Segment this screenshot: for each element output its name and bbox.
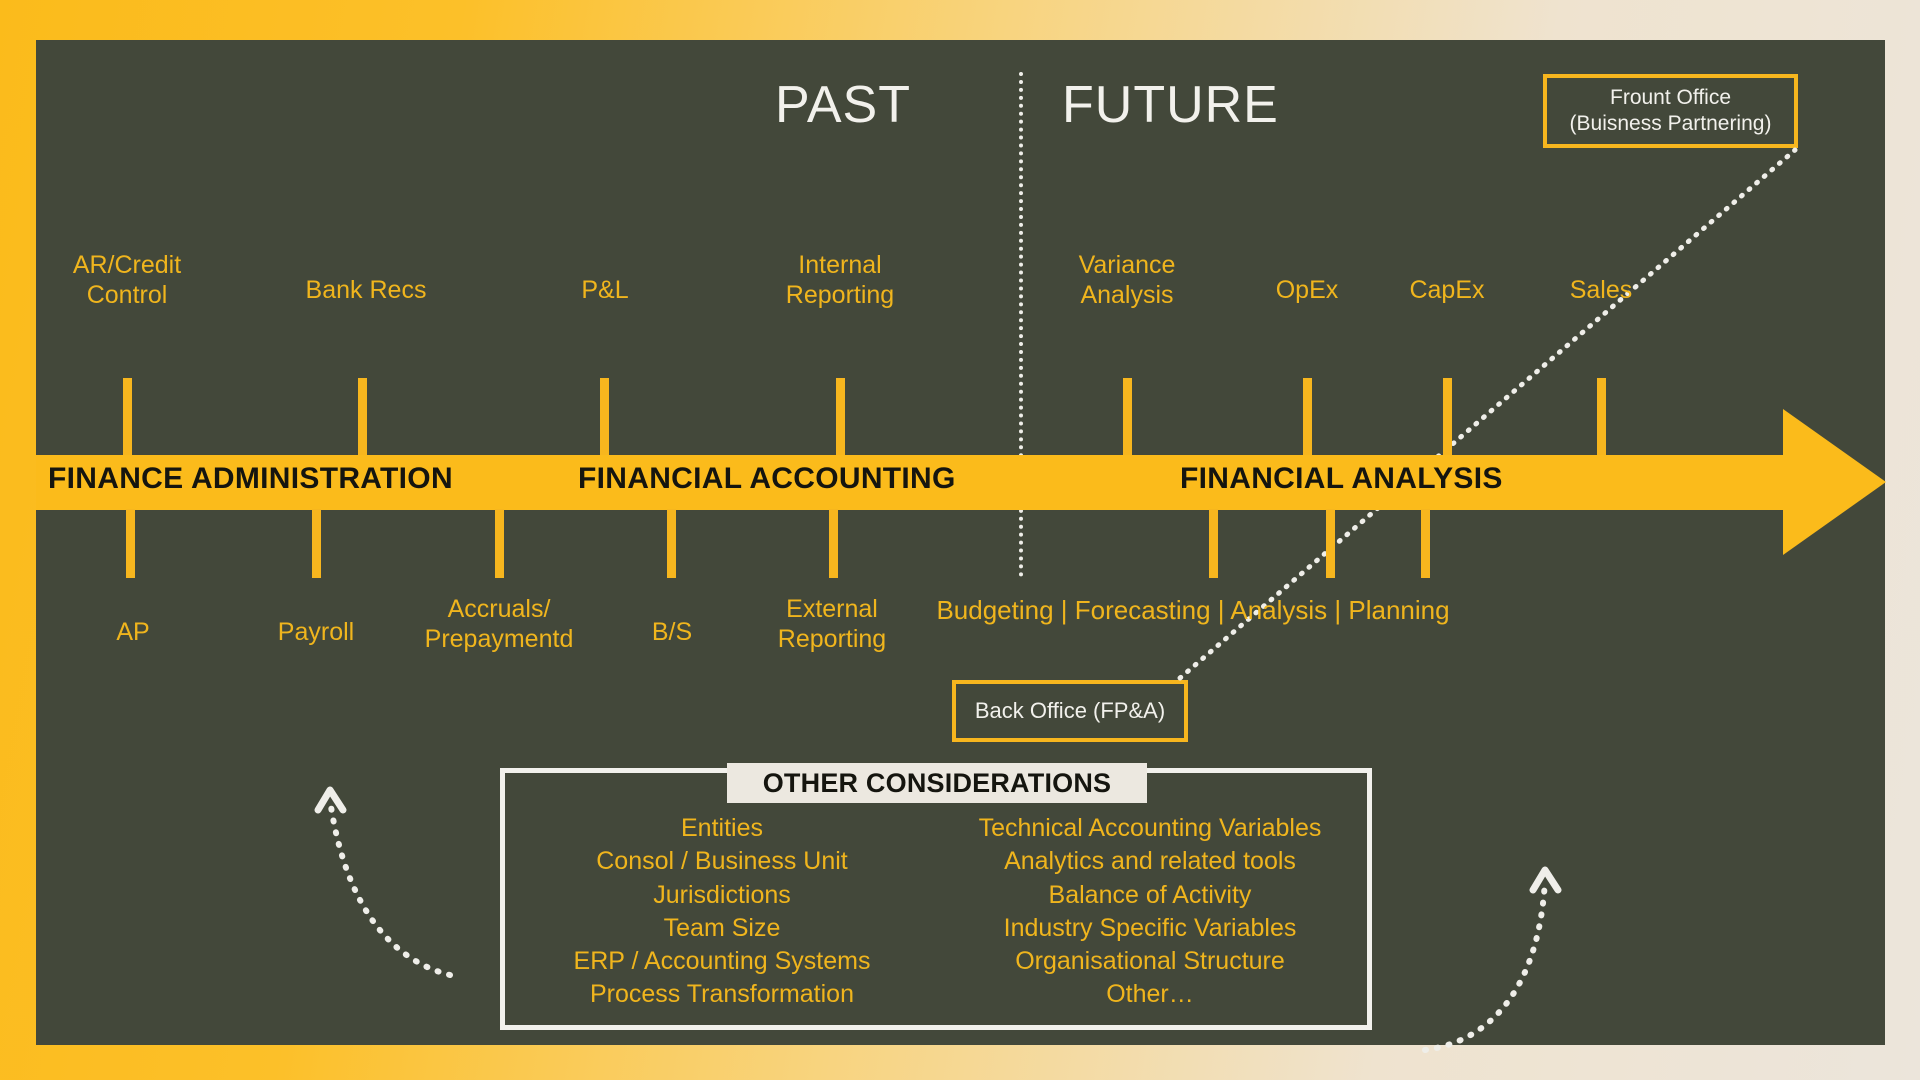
other-considerations-right-column: Technical Accounting VariablesAnalytics … — [936, 812, 1364, 1012]
other-considerations-item: Technical Accounting Variables — [979, 812, 1322, 845]
milestone-label-below: B/S — [652, 618, 692, 648]
callout-back-office-line1: Back Office (FP&A) — [975, 697, 1165, 725]
milestone-label-above: Sales — [1570, 276, 1633, 306]
other-considerations-item: Other… — [1106, 978, 1194, 1011]
timeline-tick — [1123, 378, 1132, 456]
milestone-label-above: OpEx — [1276, 276, 1339, 306]
other-considerations-item: Jurisdictions — [653, 879, 791, 912]
timeline-tick — [667, 509, 676, 578]
callout-front-office-line2: (Buisness Partnering) — [1570, 111, 1772, 137]
timeline-tick — [1443, 378, 1452, 456]
timeline-tick — [1326, 509, 1335, 578]
callout-front-office: Frount Office (Buisness Partnering) — [1543, 74, 1798, 148]
milestone-label-below: External Reporting — [778, 595, 886, 654]
other-considerations-item: Team Size — [664, 912, 781, 945]
timeline-tick — [1209, 509, 1218, 578]
timeline-tick — [1597, 378, 1606, 456]
other-considerations-item: Industry Specific Variables — [1004, 912, 1297, 945]
timeline-tick — [312, 509, 321, 578]
era-heading-past: PAST — [775, 75, 911, 135]
callout-front-office-line1: Frount Office — [1610, 85, 1731, 111]
other-considerations-title: OTHER CONSIDERATIONS — [727, 763, 1147, 803]
milestone-label-above: AR/Credit Control — [73, 251, 181, 310]
other-considerations-item: Entities — [681, 812, 763, 845]
section-label-financial-accounting: FINANCIAL ACCOUNTING — [578, 462, 956, 496]
milestone-label-above: Internal Reporting — [786, 251, 894, 310]
timeline-tick — [495, 509, 504, 578]
timeline-tick — [1421, 509, 1430, 578]
callout-back-office: Back Office (FP&A) — [952, 680, 1188, 742]
timeline-arrowhead — [1783, 409, 1886, 555]
milestone-label-above: Bank Recs — [306, 276, 427, 306]
infographic-canvas: PAST FUTURE Frount Office (Buisness Part… — [0, 0, 1920, 1080]
other-considerations-item: Analytics and related tools — [1004, 845, 1296, 878]
pipeline-label: Budgeting | Forecasting | Analysis | Pla… — [936, 595, 1449, 626]
milestone-label-above: P&L — [581, 276, 628, 306]
other-considerations-columns: EntitiesConsol / Business UnitJurisdicti… — [508, 812, 1364, 1012]
milestone-label-above: CapEx — [1409, 276, 1484, 306]
timeline-tick — [836, 378, 845, 456]
timeline-tick — [358, 378, 367, 456]
timeline-tick — [600, 378, 609, 456]
milestone-label-below: Accruals/ Prepaymentd — [425, 595, 574, 654]
other-considerations-left-column: EntitiesConsol / Business UnitJurisdicti… — [508, 812, 936, 1012]
section-label-financial-analysis: FINANCIAL ANALYSIS — [1180, 462, 1503, 496]
other-considerations-item: Organisational Structure — [1015, 945, 1285, 978]
timeline-tick — [126, 509, 135, 578]
other-considerations-item: Process Transformation — [590, 978, 854, 1011]
era-heading-future: FUTURE — [1062, 75, 1279, 135]
timeline-tick — [123, 378, 132, 456]
timeline-tick — [829, 509, 838, 578]
other-considerations-item: Balance of Activity — [1049, 879, 1252, 912]
milestone-label-below: AP — [116, 618, 149, 648]
milestone-label-above: Variance Analysis — [1079, 251, 1176, 310]
other-considerations-item: ERP / Accounting Systems — [574, 945, 871, 978]
milestone-label-below: Payroll — [278, 618, 354, 648]
section-label-finance-administration: FINANCE ADMINISTRATION — [48, 462, 453, 496]
timeline-tick — [1303, 378, 1312, 456]
other-considerations-item: Consol / Business Unit — [596, 845, 848, 878]
